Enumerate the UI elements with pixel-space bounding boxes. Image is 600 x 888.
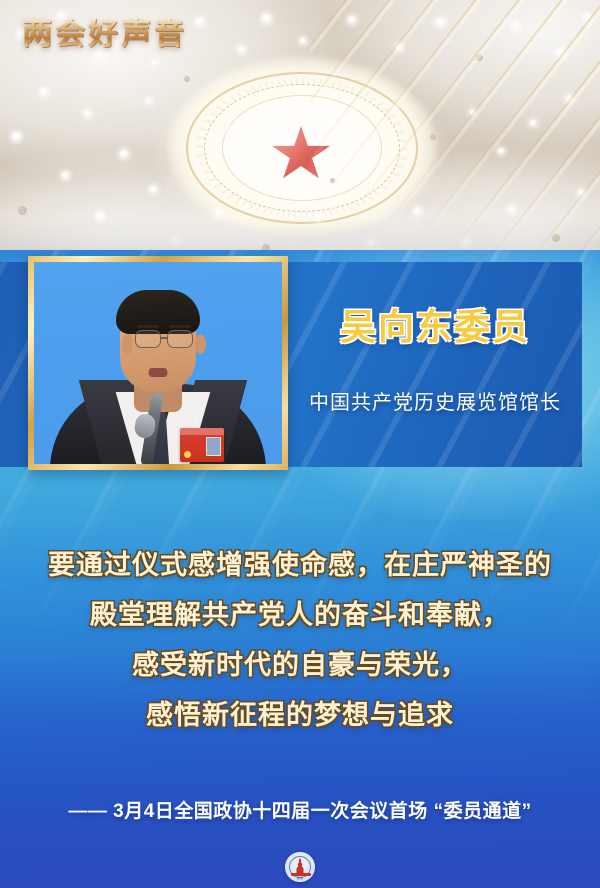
ceiling-light-dot bbox=[216, 210, 223, 217]
quote-block: 要通过仪式感增强使命感，在庄严神圣的 殿堂理解共产党人的奋斗和奉献， 感受新时代… bbox=[0, 540, 600, 740]
poster-brand-title: 两会好声音 bbox=[22, 18, 187, 51]
portrait-ear-left bbox=[122, 334, 133, 354]
ceiling-light-dot bbox=[96, 52, 106, 62]
badge-emblem-icon bbox=[184, 451, 191, 458]
quote-line: 感悟新征程的梦想与追求 bbox=[0, 690, 600, 740]
badge-photo bbox=[206, 437, 221, 456]
ceiling-light-dot bbox=[238, 46, 245, 53]
portrait-mouth bbox=[149, 368, 168, 377]
badge-header-strip bbox=[180, 428, 224, 435]
ceiling-light-dot bbox=[40, 88, 48, 96]
ceiling-light-dot bbox=[262, 14, 271, 23]
portrait-glasses-bridge bbox=[161, 337, 167, 339]
cppcc-emblem-icon: 政协 bbox=[285, 852, 315, 882]
emblem-caption: 政协 bbox=[286, 876, 314, 880]
portrait-glasses-left bbox=[135, 330, 161, 348]
ceiling-light-dot bbox=[268, 176, 273, 181]
quote-line: 殿堂理解共产党人的奋斗和奉献， bbox=[0, 590, 600, 640]
ceiling-light-dot bbox=[196, 160, 201, 165]
portrait-eyebrow-right bbox=[169, 325, 191, 328]
ceiling-light-dot bbox=[18, 206, 27, 215]
ceiling-light-dot bbox=[152, 60, 157, 65]
quote-line: 感受新时代的自豪与荣光， bbox=[0, 640, 600, 690]
portrait-ear-right bbox=[195, 334, 206, 354]
poster-root: 两会好声音 bbox=[0, 0, 600, 888]
ceiling-light-dot bbox=[62, 172, 69, 179]
quote-line: 要通过仪式感增强使命感，在庄严神圣的 bbox=[0, 540, 600, 590]
ceiling-light-dot bbox=[120, 150, 128, 158]
ceiling-light-dot bbox=[12, 132, 21, 141]
ceiling-light-dot bbox=[300, 38, 306, 44]
ceiling-light-dot bbox=[228, 128, 233, 133]
speaker-name: 吴向东委员 bbox=[300, 306, 570, 347]
ceiling-light-dot bbox=[150, 186, 157, 193]
delegate-badge bbox=[180, 428, 224, 462]
ceiling-light-dot bbox=[184, 76, 190, 82]
portrait-glasses-right bbox=[167, 330, 193, 348]
ceiling-light-dot bbox=[84, 110, 91, 117]
quote-attribution: —— 3月4日全国政协十四届一次会议首场 “委员通道” bbox=[0, 796, 600, 823]
speaker-portrait bbox=[34, 262, 282, 464]
ceiling-light-dot bbox=[196, 18, 204, 26]
speaker-role: 中国共产党历史展览馆馆长 bbox=[290, 386, 580, 415]
speaker-photo-frame bbox=[28, 256, 288, 470]
ceiling-light-dot bbox=[146, 98, 152, 104]
portrait-eyebrow-left bbox=[137, 325, 159, 328]
